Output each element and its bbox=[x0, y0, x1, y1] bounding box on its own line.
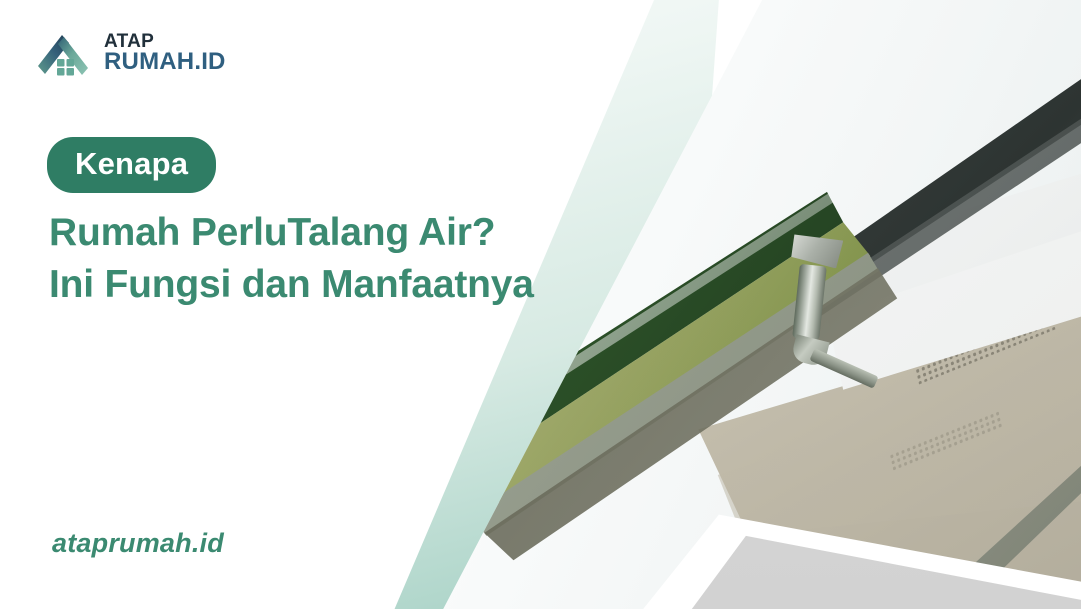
house-roof-icon bbox=[36, 26, 94, 80]
brand-logo-text: ATAP RUMAH.ID bbox=[104, 33, 226, 73]
headline-text: Rumah PerluTalang Air? Ini Fungsi dan Ma… bbox=[49, 207, 534, 312]
promo-banner: ATAP RUMAH.ID Kenapa Rumah PerluTalang A… bbox=[0, 0, 1081, 609]
brand-name-rumahid: RUMAH.ID bbox=[104, 51, 226, 74]
website-footer: ataprumah.id bbox=[52, 528, 224, 559]
brand-logo[interactable]: ATAP RUMAH.ID bbox=[36, 26, 226, 80]
kenapa-badge: Kenapa bbox=[47, 137, 216, 193]
